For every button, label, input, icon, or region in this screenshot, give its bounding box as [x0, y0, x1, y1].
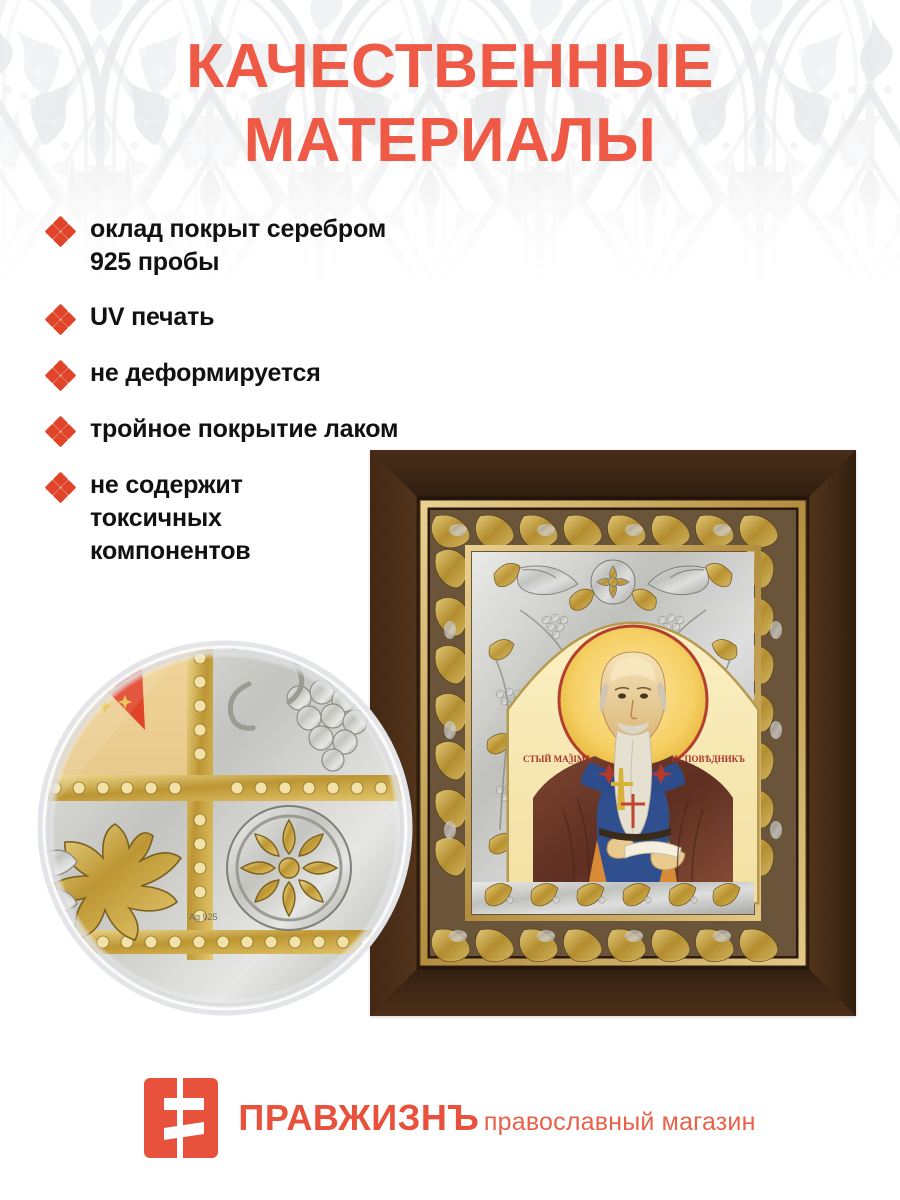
promo-page: КАЧЕСТВЕННЫЕ МАТЕРИАЛЫ оклад покрыт сере… [0, 0, 900, 1200]
list-item: не деформируется [46, 357, 466, 391]
feature-label: тройное покрытие лаком [90, 413, 398, 446]
icon-inscription-right: ИСПОВѢДНИКЪ [671, 754, 745, 764]
brand-name: ПРАВЖИЗНЪ [238, 1097, 479, 1138]
feature-label: не содержит токсичных компонентов [90, 469, 305, 568]
list-item: не содержит токсичных компонентов [46, 469, 466, 568]
feature-label: UV печать [90, 301, 214, 334]
four-diamond-bullet-icon [46, 217, 76, 247]
feature-list: оклад покрыт серебром 925 пробы UV печат… [46, 213, 466, 568]
list-item: UV печать [46, 301, 466, 335]
four-diamond-bullet-icon [46, 417, 76, 447]
title-line-2: МАТЕРИАЛЫ [0, 104, 900, 178]
feature-label: не деформируется [90, 357, 321, 390]
icon-inscription-left: СТЫЙ МАѮІМЪ [523, 754, 592, 764]
page-title: КАЧЕСТВЕННЫЕ МАТЕРИАЛЫ [0, 30, 900, 178]
four-diamond-bullet-icon [46, 361, 76, 391]
brand-footer: ПРАВЖИЗНЪ православный магазин [0, 1078, 900, 1158]
oklad-detail-magnifier: Ag 925 [37, 620, 413, 1036]
list-item: тройное покрытие лаком [46, 413, 466, 447]
orthodox-cross-logo-icon [144, 1078, 218, 1158]
brand-tagline: православный магазин [484, 1108, 756, 1136]
title-line-1: КАЧЕСТВЕННЫЕ [0, 30, 900, 104]
feature-label: оклад покрыт серебром 925 пробы [90, 213, 420, 279]
four-diamond-bullet-icon [46, 473, 76, 503]
four-diamond-bullet-icon [46, 305, 76, 335]
list-item: оклад покрыт серебром 925 пробы [46, 213, 466, 279]
